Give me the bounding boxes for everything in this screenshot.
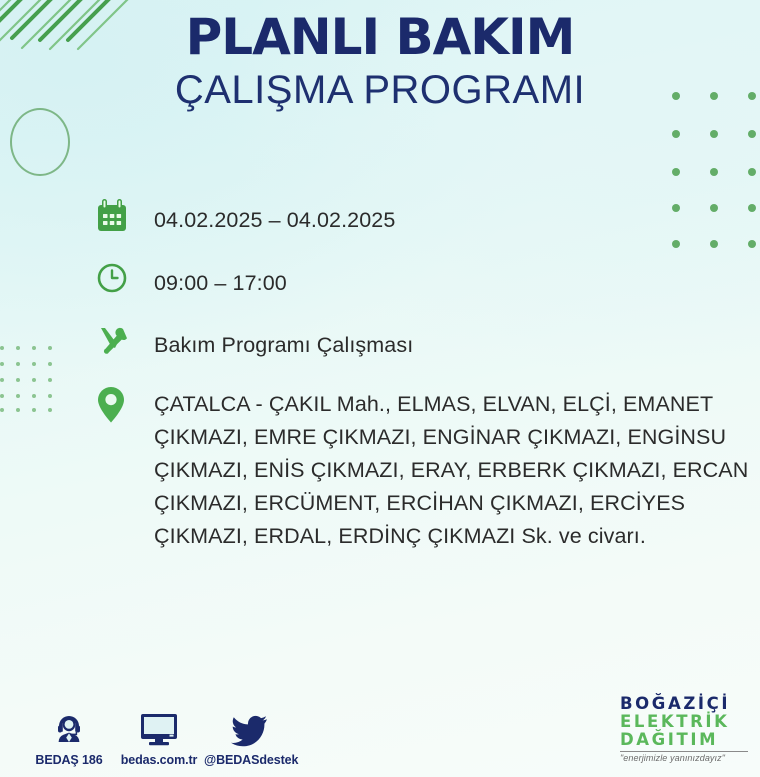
- clock-icon: [96, 260, 154, 294]
- calendar-icon: [96, 196, 154, 233]
- page-title: PLANLI BAKIM: [0, 12, 760, 63]
- dot-grid-decoration: [0, 338, 62, 414]
- circle-outline-decoration: [10, 108, 70, 176]
- detail-row-time: 09:00 – 17:00: [96, 260, 760, 322]
- call-center-agent-icon: [24, 704, 114, 748]
- detail-row-location: ÇATALCA - ÇAKIL Mah., ELMAS, ELVAN, ELÇİ…: [96, 384, 760, 553]
- date-range-text: 04.02.2025 – 04.02.2025: [154, 196, 395, 237]
- tools-icon: [96, 322, 154, 356]
- contact-item-phone[interactable]: BEDAŞ 186: [24, 704, 114, 767]
- time-range-text: 09:00 – 17:00: [154, 260, 287, 300]
- maintenance-details: 04.02.2025 – 04.02.2025 09:00 – 17:00 Ba…: [96, 196, 760, 553]
- page-subtitle: ÇALIŞMA PROGRAMI: [0, 69, 760, 111]
- poster-footer: BEDAŞ 186 bedas.com.tr: [0, 677, 760, 777]
- location-text: ÇATALCA - ÇAKIL Mah., ELMAS, ELVAN, ELÇİ…: [154, 384, 758, 553]
- poster-header: PLANLI BAKIM ÇALIŞMA PROGRAMI: [0, 0, 760, 111]
- contact-list: BEDAŞ 186 bedas.com.tr: [24, 704, 294, 767]
- monitor-icon: [114, 704, 204, 748]
- twitter-bird-icon: [204, 704, 294, 748]
- brand-line-3: DAĞITIM: [620, 731, 748, 749]
- detail-row-date: 04.02.2025 – 04.02.2025: [96, 196, 760, 260]
- contact-label: BEDAŞ 186: [24, 753, 114, 767]
- contact-label: bedas.com.tr: [114, 753, 204, 767]
- work-type-text: Bakım Programı Çalışması: [154, 322, 413, 362]
- contact-item-twitter[interactable]: @BEDASdestek: [204, 704, 294, 767]
- contact-item-website[interactable]: bedas.com.tr: [114, 704, 204, 767]
- map-pin-icon: [96, 384, 154, 424]
- brand-line-2: ELEKTRİK: [620, 713, 748, 731]
- contact-label: @BEDASdestek: [204, 753, 294, 767]
- brand-tagline: "enerjimizle yanınızdayız": [620, 751, 748, 763]
- bedas-logo: BOĞAZİÇİ ELEKTRİK DAĞITIM "enerjimizle y…: [620, 695, 748, 763]
- brand-line-1: BOĞAZİÇİ: [620, 695, 748, 713]
- planned-maintenance-poster: PLANLI BAKIM ÇALIŞMA PROGRAMI: [0, 0, 760, 777]
- detail-row-work-type: Bakım Programı Çalışması: [96, 322, 760, 384]
